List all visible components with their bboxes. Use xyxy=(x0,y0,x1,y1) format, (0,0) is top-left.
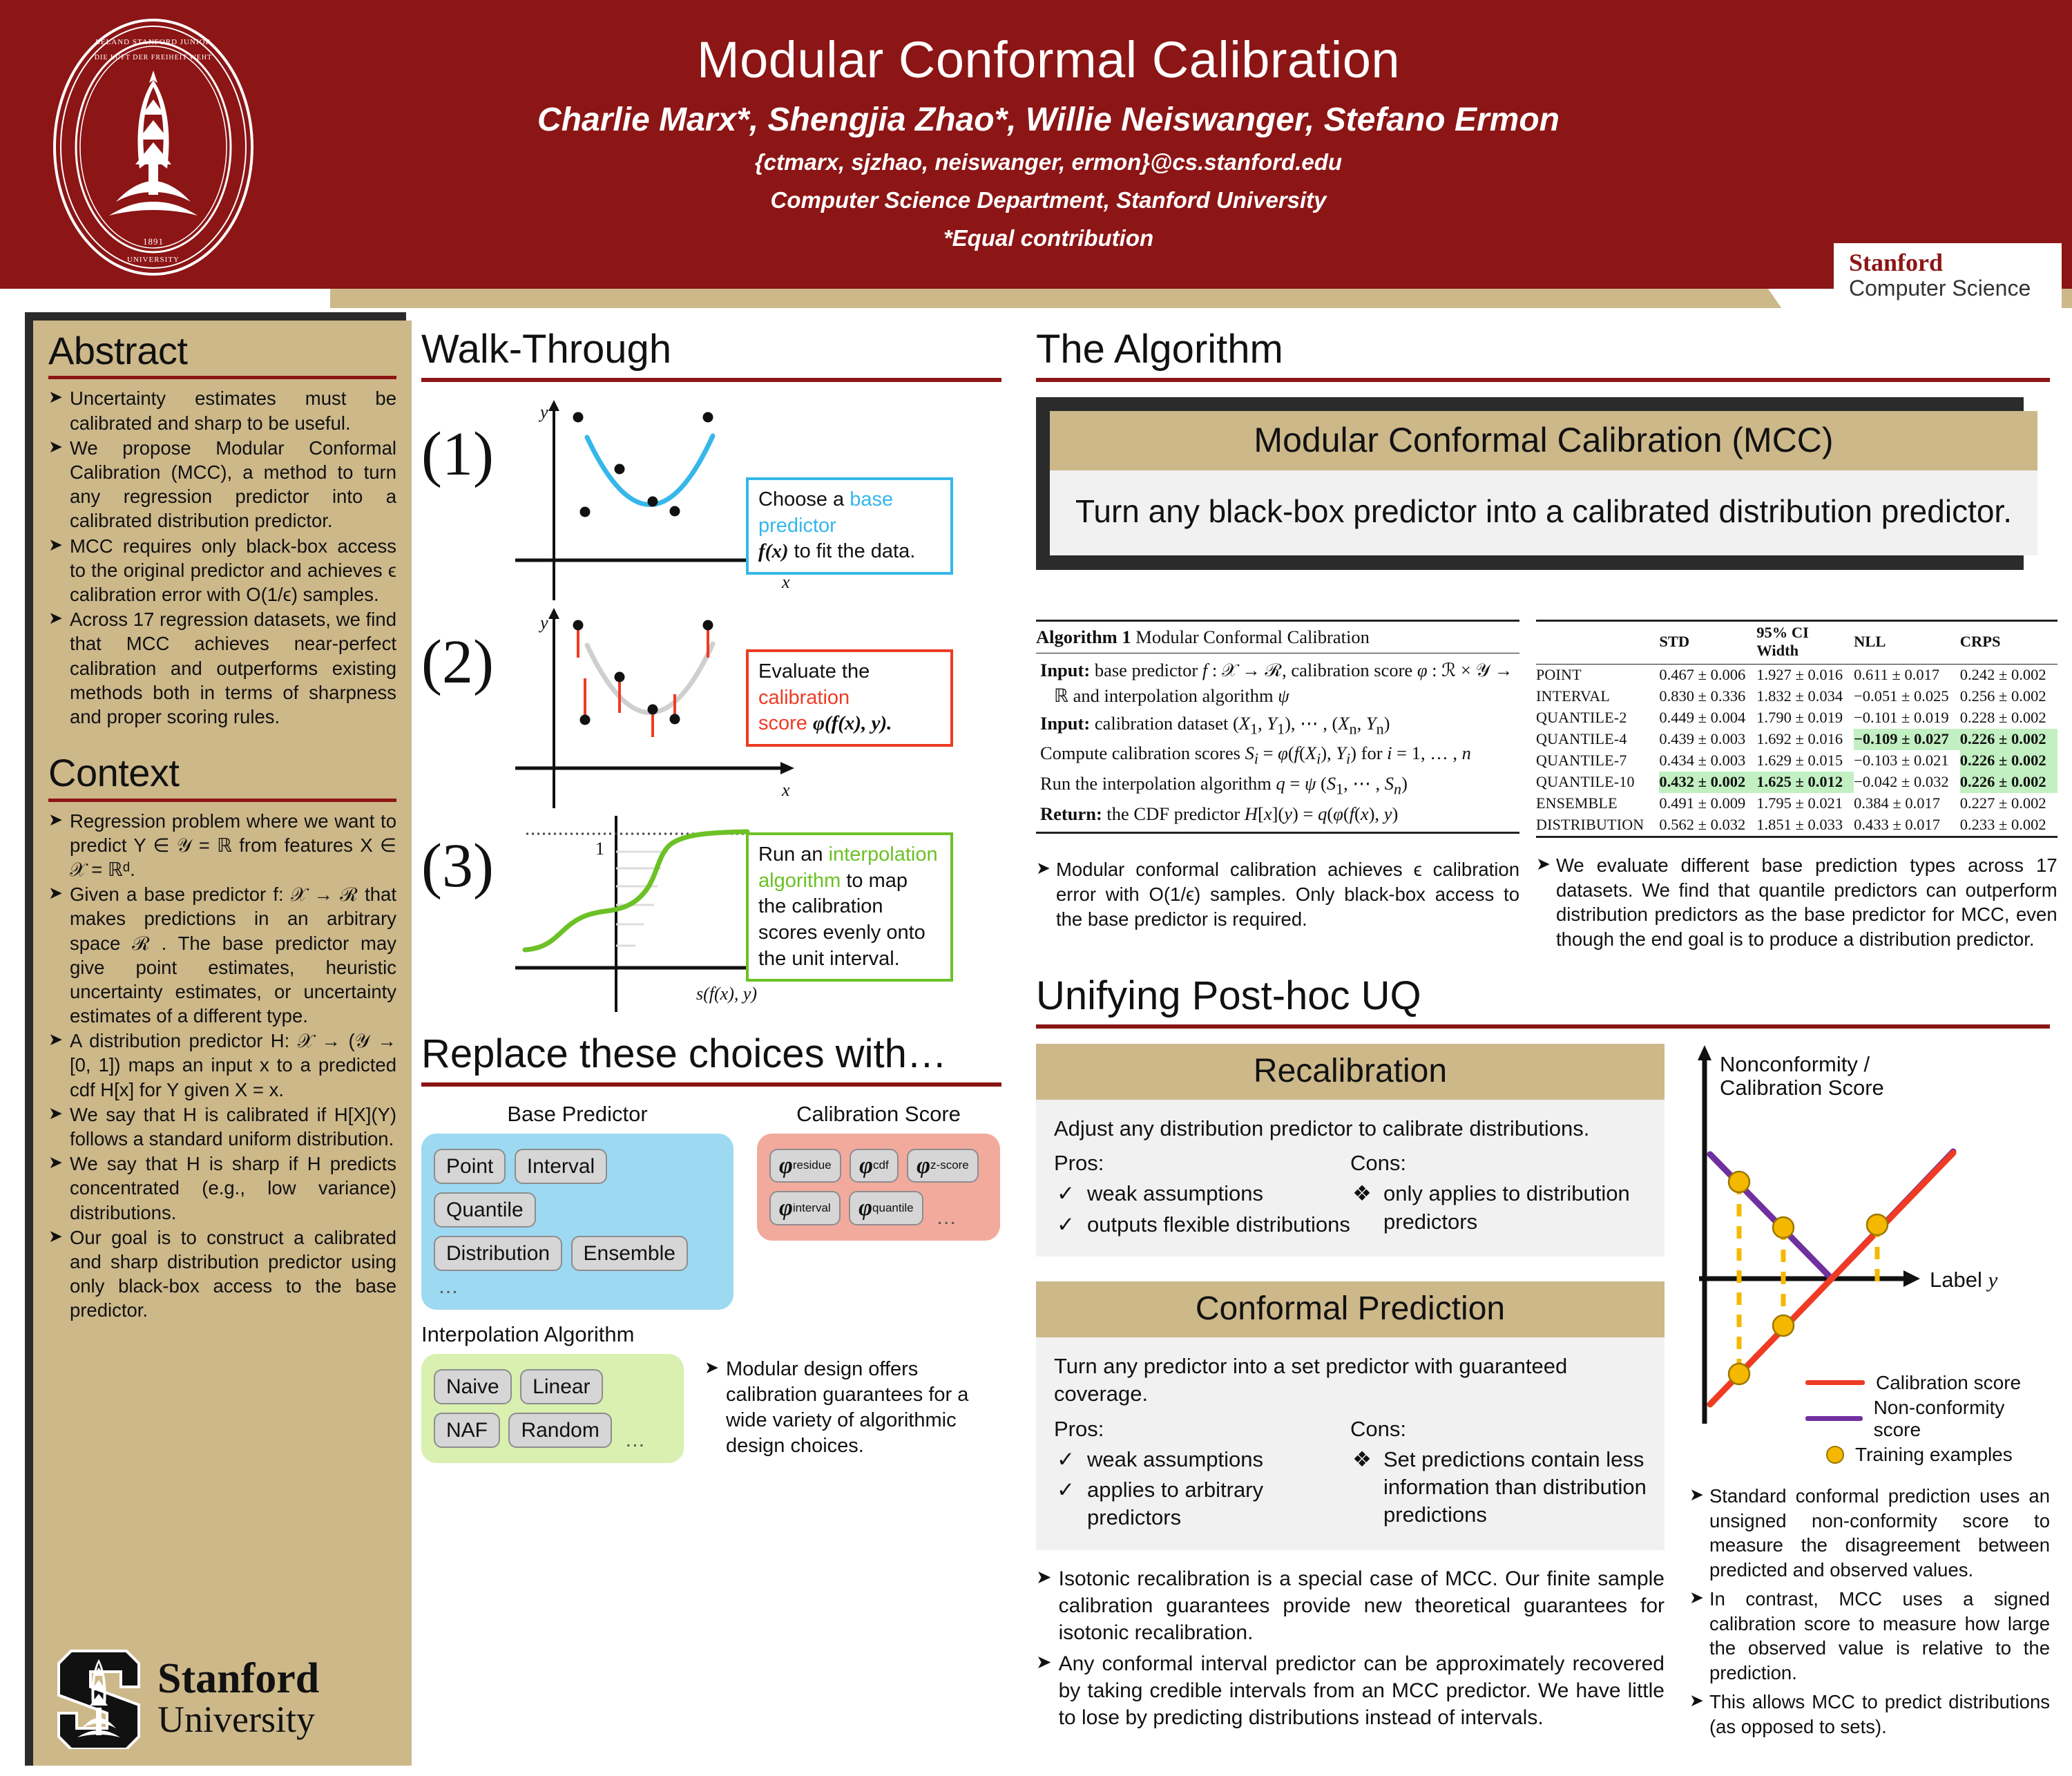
axis-label-x: x xyxy=(781,572,790,592)
cons-label: Cons: xyxy=(1350,1149,1647,1177)
results-table-body: POINT0.467 ± 0.0061.927 ± 0.0160.611 ± 0… xyxy=(1536,664,2057,838)
list-item: ➤We say that H is sharp if H predicts co… xyxy=(48,1152,396,1225)
chip-linear[interactable]: Linear xyxy=(520,1369,602,1404)
legend-label: Calibration score xyxy=(1876,1372,2021,1394)
interpolation-box: Naive Linear NAF Random … xyxy=(421,1354,684,1463)
table-cell-crps: 0.233 ± 0.002 xyxy=(1960,814,2057,837)
mcc-card-title: Modular Conformal Calibration (MCC) xyxy=(1050,411,2037,471)
table-header-row: STD 95% CI Width NLL CRPS xyxy=(1536,620,2057,664)
bullet-text: Uncertainty estimates must be calibrated… xyxy=(70,386,396,435)
callout-formula: φ(f(x), y). xyxy=(813,712,892,734)
pros-label: Pros: xyxy=(1054,1415,1350,1443)
ellipsis-icon: … xyxy=(434,1275,463,1299)
results-note: ➤ We evaluate different base prediction … xyxy=(1536,853,2057,952)
table-cell-crps: 0.242 ± 0.002 xyxy=(1960,664,2057,686)
conformal-proscons: Pros: ✓weak assumptions ✓applies to arbi… xyxy=(1054,1415,1647,1532)
algorithm-line: Input: base predictor f : 𝒳 → ℛ, calibra… xyxy=(1036,657,1519,710)
table-cell-nll: −0.101 ± 0.019 xyxy=(1854,707,1960,729)
recalibration-title: Recalibration xyxy=(1036,1044,1665,1100)
table-cell-ci: 1.851 ± 0.033 xyxy=(1756,814,1854,837)
table-cell-std: 0.449 ± 0.004 xyxy=(1659,707,1756,729)
callout-text-plain: Run an xyxy=(758,843,829,866)
stanford-block-s-icon xyxy=(54,1647,144,1749)
callout-text-highlight: interpolation xyxy=(829,843,938,866)
recalibration-body: Adjust any distribution predictor to cal… xyxy=(1036,1100,1665,1257)
recalibration-cons: Cons: ❖only applies to distribution pred… xyxy=(1350,1149,1647,1239)
callout-text-highlight2: score xyxy=(758,712,807,734)
ellipsis-icon: … xyxy=(932,1206,961,1230)
row-label: ENSEMBLE xyxy=(1536,793,1659,814)
algorithm-caption: Algorithm 1 Modular Conformal Calibratio… xyxy=(1036,622,1519,653)
check-icon: ✓ xyxy=(1054,1211,1077,1239)
interpolation-group: Interpolation Algorithm Naive Linear NAF… xyxy=(421,1322,684,1463)
list-item: ➤Our goal is to construct a calibrated a… xyxy=(48,1225,396,1323)
row-label: QUANTILE-2 xyxy=(1536,707,1659,729)
svg-text:LELAND STANFORD JUNIOR: LELAND STANFORD JUNIOR xyxy=(95,38,211,46)
table-cell-nll: −0.051 ± 0.025 xyxy=(1854,686,1960,707)
chip-ensemble[interactable]: Ensemble xyxy=(571,1236,688,1271)
walkthrough-step-2: (2) y x xyxy=(421,608,1001,819)
pros-label: Pros: xyxy=(1054,1149,1350,1177)
list-item: ➤In contrast, MCC uses a signed calibrat… xyxy=(1689,1587,2050,1686)
recalibration-card: Recalibration Adjust any distribution pr… xyxy=(1036,1044,1665,1257)
walkthrough-divider xyxy=(421,378,1001,382)
walkthrough-step-3: (3) 1 s(f(x), y) Run xyxy=(421,812,1001,1022)
chart-ylabel-line1: Nonconformity / xyxy=(1720,1052,1870,1076)
table-cell-std: 0.830 ± 0.336 xyxy=(1659,686,1756,707)
unifying-row: Recalibration Adjust any distribution pr… xyxy=(1036,1044,2050,1739)
row-label: DISTRIBUTION xyxy=(1536,814,1659,837)
pro-item: ✓weak assumptions xyxy=(1054,1180,1350,1207)
equal-contribution-note: *Equal contribution xyxy=(330,225,1767,252)
diamond-icon: ❖ xyxy=(1350,1446,1374,1529)
chip-phi-quantile[interactable]: φquantile xyxy=(849,1191,923,1225)
abstract-heading: Abstract xyxy=(48,330,396,372)
poster-header: LELAND STANFORD JUNIOR UNIVERSITY 1891 D… xyxy=(0,0,2072,289)
col-ci: 95% CI Width xyxy=(1756,620,1854,664)
table-cell-std: 0.491 ± 0.009 xyxy=(1659,793,1756,814)
algorithm-line: Return: the CDF predictor H[x](y) = q(φ(… xyxy=(1036,801,1519,828)
callout-text-rest: to fit the data. xyxy=(788,540,915,562)
algorithm-line: Run the interpolation algorithm q = ψ (S… xyxy=(1036,770,1519,801)
table-cell-nll: −0.109 ± 0.027 xyxy=(1854,729,1960,750)
bullet-arrow-icon: ➤ xyxy=(48,1152,63,1225)
choice-groups-row: Base Predictor Point Interval Quantile D… xyxy=(421,1102,1001,1310)
group-title: Base Predictor xyxy=(421,1102,733,1127)
context-bullets: ➤Regression problem where we want to pre… xyxy=(48,809,396,1323)
algorithm-note: ➤ Modular conformal calibration achieves… xyxy=(1036,857,1519,931)
table-cell-crps: 0.256 ± 0.002 xyxy=(1960,686,2057,707)
diamond-icon: ❖ xyxy=(1350,1180,1374,1236)
list-item: ➤Any conformal interval predictor can be… xyxy=(1036,1650,1665,1731)
walkthrough-heading: Walk-Through xyxy=(421,329,1001,371)
step-number: (3) xyxy=(421,812,512,897)
badge-stanford-label: Stanford xyxy=(1849,250,2062,275)
page-title: Modular Conformal Calibration xyxy=(330,33,1767,87)
recalibration-proscons: Pros: ✓weak assumptions ✓outputs flexibl… xyxy=(1054,1149,1647,1239)
table-cell-crps: 0.227 ± 0.002 xyxy=(1960,793,2057,814)
list-item: ➤Across 17 regression datasets, we find … xyxy=(48,607,396,729)
chip-subscript: z-score xyxy=(930,1159,969,1172)
chip-distribution[interactable]: Distribution xyxy=(434,1236,562,1271)
list-item: ➤ Modular design offers calibration guar… xyxy=(704,1357,1001,1459)
pseudocode-block: Algorithm 1 Modular Conformal Calibratio… xyxy=(1036,620,1519,932)
bullet-arrow-icon: ➤ xyxy=(48,534,63,607)
row-label: POINT xyxy=(1536,664,1659,686)
table-cell-crps: 0.226 ± 0.002 xyxy=(1960,772,2057,793)
col-blank xyxy=(1536,620,1659,664)
table-cell-ci: 1.629 ± 0.015 xyxy=(1756,750,1854,772)
table-cell-std: 0.439 ± 0.003 xyxy=(1659,729,1756,750)
stanford-cs-badge: Stanford Computer Science xyxy=(1834,243,2062,309)
abstract-bullets: ➤Uncertainty estimates must be calibrate… xyxy=(48,386,396,729)
col-crps: CRPS xyxy=(1960,620,2057,664)
row-label: QUANTILE-4 xyxy=(1536,729,1659,750)
algorithm-line: Input: calibration dataset (X1, Y1), ⋯ ,… xyxy=(1036,710,1519,741)
pro-text: weak assumptions xyxy=(1087,1446,1263,1473)
chip-interval[interactable]: Interval xyxy=(515,1149,607,1184)
bullet-text: We say that H is sharp if H predicts con… xyxy=(70,1152,396,1225)
calibration-score-box: φresidue φcdf φz-score φinterval φquanti… xyxy=(757,1134,1000,1241)
bullet-text: Given a base predictor f: 𝒳 → ℛ that mak… xyxy=(70,882,396,1028)
row-label: INTERVAL xyxy=(1536,686,1659,707)
table-cell-nll: 0.384 ± 0.017 xyxy=(1854,793,1960,814)
list-item: ➤A distribution predictor H: 𝒳 → (𝒴 → [0… xyxy=(48,1029,396,1102)
mcc-card: Modular Conformal Calibration (MCC) Turn… xyxy=(1036,397,2050,584)
check-icon: ✓ xyxy=(1054,1446,1077,1473)
table-row: QUANTILE-70.434 ± 0.0031.629 ± 0.015−0.1… xyxy=(1536,750,2057,772)
bullet-text: Our goal is to construct a calibrated an… xyxy=(70,1225,396,1323)
chip-quantile[interactable]: Quantile xyxy=(434,1192,536,1228)
bullet-text: Modular conformal calibration achieves ϵ… xyxy=(1056,857,1519,931)
chip-phi-residue[interactable]: φresidue xyxy=(769,1149,841,1183)
table-cell-std: 0.467 ± 0.006 xyxy=(1659,664,1756,686)
conformal-body: Turn any predictor into a set predictor … xyxy=(1036,1337,1665,1550)
bullet-arrow-icon: ➤ xyxy=(48,882,63,1028)
table-cell-std: 0.432 ± 0.002 xyxy=(1659,772,1756,793)
row-label: QUANTILE-7 xyxy=(1536,750,1659,772)
legend-dot-icon xyxy=(1826,1446,1844,1464)
mcc-card-inner: Modular Conformal Calibration (MCC) Turn… xyxy=(1050,411,2037,555)
legend-line-icon xyxy=(1805,1380,1865,1385)
legend-label: Non-conformity score xyxy=(1874,1397,2050,1441)
list-item: ➤This allows MCC to predict distribution… xyxy=(1689,1690,2050,1739)
pro-item: ✓applies to arbitrary predictors xyxy=(1054,1476,1350,1532)
bullet-text: MCC requires only black-box access to th… xyxy=(70,534,396,607)
callout-text-highlight: calibration xyxy=(758,687,850,709)
axis-tick-1: 1 xyxy=(595,839,604,859)
chip-random[interactable]: Random xyxy=(508,1413,611,1448)
bullet-text: Regression problem where we want to pred… xyxy=(70,809,396,882)
bullet-text: Across 17 regression datasets, we find t… xyxy=(70,607,396,729)
axis-label-y: y xyxy=(538,613,548,633)
table-cell-crps: 0.228 ± 0.002 xyxy=(1960,707,2057,729)
stanford-seal-logo: LELAND STANFORD JUNIOR UNIVERSITY 1891 D… xyxy=(50,17,257,278)
bullet-arrow-icon: ➤ xyxy=(48,1225,63,1323)
list-item: ➤We propose Modular Conformal Calibratio… xyxy=(48,436,396,533)
chip-phi-cdf[interactable]: φcdf xyxy=(850,1149,899,1183)
stanford-wordmark: Stanford University xyxy=(157,1657,319,1739)
bullet-arrow-icon: ➤ xyxy=(1689,1587,1704,1686)
table-cell-nll: 0.611 ± 0.017 xyxy=(1854,664,1960,686)
table-cell-std: 0.562 ± 0.032 xyxy=(1659,814,1756,837)
table-row: QUANTILE-20.449 ± 0.0041.790 ± 0.019−0.1… xyxy=(1536,707,2057,729)
col-std: STD xyxy=(1659,620,1756,664)
algorithm-divider xyxy=(1036,378,2050,382)
group-title: Interpolation Algorithm xyxy=(421,1322,684,1347)
chart-xlabel: Label y xyxy=(1930,1268,1997,1292)
table-cell-crps: 0.226 ± 0.002 xyxy=(1960,750,2057,772)
bullet-text: Isotonic recalibration is a special case… xyxy=(1059,1565,1665,1646)
con-text: only applies to distribution predictors xyxy=(1383,1180,1647,1236)
bullet-text: Any conformal interval predictor can be … xyxy=(1059,1650,1665,1731)
unifying-divider xyxy=(1036,1024,2050,1029)
results-table-block: STD 95% CI Width NLL CRPS POINT0.467 ± 0… xyxy=(1536,620,2057,952)
list-item: ➤Standard conformal prediction uses an u… xyxy=(1689,1484,2050,1583)
bullet-arrow-icon: ➤ xyxy=(48,1102,63,1151)
axis-label-x: s(f(x), y) xyxy=(696,984,757,1004)
table-row: ENSEMBLE0.491 ± 0.0091.795 ± 0.0210.384 … xyxy=(1536,793,2057,814)
algorithm-column: The Algorithm Modular Conformal Calibrat… xyxy=(1036,329,2050,1739)
bullet-arrow-icon: ➤ xyxy=(48,436,63,533)
pro-item: ✓weak assumptions xyxy=(1054,1446,1350,1473)
chip-point[interactable]: Point xyxy=(434,1149,506,1184)
bullet-arrow-icon: ➤ xyxy=(48,809,63,882)
author-list: Charlie Marx*, Shengjia Zhao*, Willie Ne… xyxy=(330,102,1767,139)
table-cell-nll: −0.103 ± 0.021 xyxy=(1854,750,1960,772)
table-cell-ci: 1.790 ± 0.019 xyxy=(1756,707,1854,729)
svg-text:1891: 1891 xyxy=(143,236,164,247)
unifying-left: Recalibration Adjust any distribution pr… xyxy=(1036,1044,1665,1731)
table-cell-ci: 1.692 ± 0.016 xyxy=(1756,729,1854,750)
left-panel: Abstract ➤Uncertainty estimates must be … xyxy=(33,321,412,1766)
table-cell-nll: −0.042 ± 0.032 xyxy=(1854,772,1960,793)
stanford-line1: Stanford xyxy=(157,1657,319,1701)
legend-label: Training examples xyxy=(1855,1444,2013,1466)
replace-heading: Replace these choices with… xyxy=(421,1033,1001,1076)
axis-label-x: x xyxy=(781,780,790,800)
bullet-arrow-icon: ➤ xyxy=(48,1029,63,1102)
interp-and-note-row: Interpolation Algorithm Naive Linear NAF… xyxy=(421,1322,1001,1463)
table-bottom-rule xyxy=(1536,837,2057,838)
table-row: QUANTILE-40.439 ± 0.0031.692 ± 0.016−0.1… xyxy=(1536,729,2057,750)
score-chart-bullets: ➤Standard conformal prediction uses an u… xyxy=(1689,1484,2050,1739)
bullet-text: A distribution predictor H: 𝒳 → (𝒴 → [0,… xyxy=(70,1029,396,1102)
contact-email: {ctmarx, sjzhao, neiswanger, ermon}@cs.s… xyxy=(330,149,1767,176)
col-nll: NLL xyxy=(1854,620,1960,664)
algorithm-name: Modular Conformal Calibration xyxy=(1131,627,1370,647)
bullet-text: We propose Modular Conformal Calibration… xyxy=(70,436,396,533)
bullet-arrow-icon: ➤ xyxy=(1689,1690,1704,1739)
algorithm-listing: Algorithm 1 Modular Conformal Calibratio… xyxy=(1036,620,1519,834)
table-cell-ci: 1.625 ± 0.012 xyxy=(1756,772,1854,793)
table-row: QUANTILE-100.432 ± 0.0021.625 ± 0.012−0.… xyxy=(1536,772,2057,793)
base-predictor-group: Base Predictor Point Interval Quantile D… xyxy=(421,1102,733,1310)
table-cell-ci: 1.795 ± 0.021 xyxy=(1756,793,1854,814)
algorithm-heading: The Algorithm xyxy=(1036,329,2050,371)
title-block: Modular Conformal Calibration Charlie Ma… xyxy=(330,33,1767,252)
list-item: ➤Regression problem where we want to pre… xyxy=(48,809,396,882)
table-row: DISTRIBUTION0.562 ± 0.0321.851 ± 0.0330.… xyxy=(1536,814,2057,837)
pro-text: applies to arbitrary predictors xyxy=(1087,1476,1350,1532)
table-cell-std: 0.434 ± 0.003 xyxy=(1659,750,1756,772)
table-cell-nll: 0.433 ± 0.017 xyxy=(1854,814,1960,837)
list-item: ➤We say that H is calibrated if H[X](Y) … xyxy=(48,1102,396,1151)
pro-text: outputs flexible distributions xyxy=(1087,1211,1350,1239)
badge-cs-label: Computer Science xyxy=(1849,275,2062,302)
chip-phi-zscore[interactable]: φz-score xyxy=(907,1149,979,1183)
con-item: ❖only applies to distribution predictors xyxy=(1350,1180,1647,1236)
ellipsis-icon: … xyxy=(620,1429,649,1452)
base-predictor-box: Point Interval Quantile Distribution Ens… xyxy=(421,1134,733,1310)
bullet-arrow-icon: ➤ xyxy=(48,607,63,729)
algorithm-number: Algorithm 1 xyxy=(1036,627,1131,647)
chip-subscript: residue xyxy=(793,1159,832,1172)
recalibration-pros: Pros: ✓weak assumptions ✓outputs flexibl… xyxy=(1054,1149,1350,1239)
bullet-arrow-icon: ➤ xyxy=(1689,1484,1704,1583)
unifying-bullets: ➤Isotonic recalibration is a special cas… xyxy=(1036,1565,1665,1731)
step-number: (2) xyxy=(421,608,512,694)
bullet-text: We say that H is calibrated if H[X](Y) f… xyxy=(70,1102,396,1151)
group-title: Calibration Score xyxy=(757,1102,1000,1127)
bullet-arrow-icon: ➤ xyxy=(1536,853,1551,952)
callout-text-plain: Evaluate the xyxy=(758,660,870,682)
step-number: (1) xyxy=(421,400,512,486)
step1-callout: Choose a base predictor f(x) to fit the … xyxy=(746,477,953,575)
bullet-text: Standard conformal prediction uses an un… xyxy=(1709,1484,2050,1583)
pro-text: weak assumptions xyxy=(1087,1180,1263,1207)
calibration-score-group: Calibration Score φresidue φcdf φz-score… xyxy=(757,1102,1000,1310)
bullet-text: Modular design offers calibration guaran… xyxy=(726,1357,1001,1459)
list-item: ➤Uncertainty estimates must be calibrate… xyxy=(48,386,396,435)
stanford-university-lockup: Stanford University xyxy=(54,1643,378,1753)
list-item: ➤MCC requires only black-box access to t… xyxy=(48,534,396,607)
table-cell-ci: 1.927 ± 0.016 xyxy=(1756,664,1854,686)
pro-item: ✓outputs flexible distributions xyxy=(1054,1211,1350,1239)
legend-item-training: Training examples xyxy=(1805,1444,2050,1466)
step2-callout: Evaluate the calibration score φ(f(x), y… xyxy=(746,649,953,747)
conformal-card: Conformal Prediction Turn any predictor … xyxy=(1036,1281,1665,1550)
axis-label-y: y xyxy=(538,402,548,422)
context-heading: Context xyxy=(48,752,396,794)
bullet-arrow-icon: ➤ xyxy=(1036,1565,1052,1646)
bullet-text: We evaluate different base prediction ty… xyxy=(1556,853,2057,952)
svg-text:UNIVERSITY: UNIVERSITY xyxy=(127,256,180,264)
affiliation: Computer Science Department, Stanford Un… xyxy=(330,187,1767,214)
legend-line-icon xyxy=(1805,1416,1863,1421)
abstract-divider xyxy=(48,376,396,379)
conformal-title: Conformal Prediction xyxy=(1036,1281,1665,1337)
list-item: ➤Given a base predictor f: 𝒳 → ℛ that ma… xyxy=(48,882,396,1028)
results-table: STD 95% CI Width NLL CRPS POINT0.467 ± 0… xyxy=(1536,620,2057,838)
context-divider xyxy=(48,799,396,802)
replace-divider xyxy=(421,1082,1001,1087)
conformal-lead: Turn any predictor into a set predictor … xyxy=(1054,1353,1647,1409)
bullet-arrow-icon: ➤ xyxy=(48,386,63,435)
check-icon: ✓ xyxy=(1054,1476,1077,1532)
table-cell-ci: 1.832 ± 0.034 xyxy=(1756,686,1854,707)
chip-phi-interval[interactable]: φinterval xyxy=(769,1191,841,1225)
bullet-text: In contrast, MCC uses a signed calibrati… xyxy=(1709,1587,2050,1686)
chart-ylabel-line2: Calibration Score xyxy=(1720,1076,1884,1100)
callout-text-highlight2: algorithm xyxy=(758,870,841,892)
bullet-arrow-icon: ➤ xyxy=(1036,1650,1052,1731)
con-item: ❖Set predictions contain less informatio… xyxy=(1350,1446,1647,1529)
list-item: ➤Isotonic recalibration is a special cas… xyxy=(1036,1565,1665,1646)
table-row: INTERVAL0.830 ± 0.3361.832 ± 0.034−0.051… xyxy=(1536,686,2057,707)
score-chart-block: Nonconformity / Calibration Score Label … xyxy=(1689,1044,2050,1739)
walkthrough-column: Walk-Through (1) y x Choose a base pr xyxy=(421,329,1001,1463)
chip-naf[interactable]: NAF xyxy=(434,1413,500,1448)
mcc-card-body: Turn any black-box predictor into a cali… xyxy=(1050,470,2037,555)
unifying-heading: Unifying Post-hoc UQ xyxy=(1036,975,2050,1018)
conformal-pros: Pros: ✓weak assumptions ✓applies to arbi… xyxy=(1054,1415,1350,1532)
bullet-arrow-icon: ➤ xyxy=(1036,857,1051,931)
table-cell-crps: 0.226 ± 0.002 xyxy=(1960,729,2057,750)
walkthrough-step-1: (1) y x Choose a base predictor f(x) to … xyxy=(421,400,1001,611)
table-row: POINT0.467 ± 0.0061.927 ± 0.0160.611 ± 0… xyxy=(1536,664,2057,686)
chip-subscript: quantile xyxy=(872,1202,914,1215)
bullet-arrow-icon: ➤ xyxy=(704,1357,719,1459)
cons-label: Cons: xyxy=(1350,1415,1647,1443)
modular-note: ➤ Modular design offers calibration guar… xyxy=(704,1322,1001,1463)
chip-subscript: interval xyxy=(793,1202,831,1215)
algorithm-table-row: Algorithm 1 Modular Conformal Calibratio… xyxy=(1036,620,2050,952)
step3-callout: Run an interpolation algorithm to map th… xyxy=(746,832,953,982)
algorithm-line: Compute calibration scores Si = φ(f(Xi),… xyxy=(1036,740,1519,770)
bullet-text: This allows MCC to predict distributions… xyxy=(1709,1690,2050,1739)
svg-text:DIE LUFT DER FREIHEIT WEHT: DIE LUFT DER FREIHEIT WEHT xyxy=(95,54,212,61)
callout-text-plain: Choose a xyxy=(758,488,850,510)
chip-subscript: cdf xyxy=(873,1159,889,1172)
stanford-line2: University xyxy=(157,1701,319,1739)
row-label: QUANTILE-10 xyxy=(1536,772,1659,793)
con-text: Set predictions contain less information… xyxy=(1383,1446,1647,1529)
conformal-cons: Cons: ❖Set predictions contain less info… xyxy=(1350,1415,1647,1532)
recalibration-lead: Adjust any distribution predictor to cal… xyxy=(1054,1115,1647,1143)
chip-naive[interactable]: Naive xyxy=(434,1369,512,1404)
check-icon: ✓ xyxy=(1054,1180,1077,1207)
